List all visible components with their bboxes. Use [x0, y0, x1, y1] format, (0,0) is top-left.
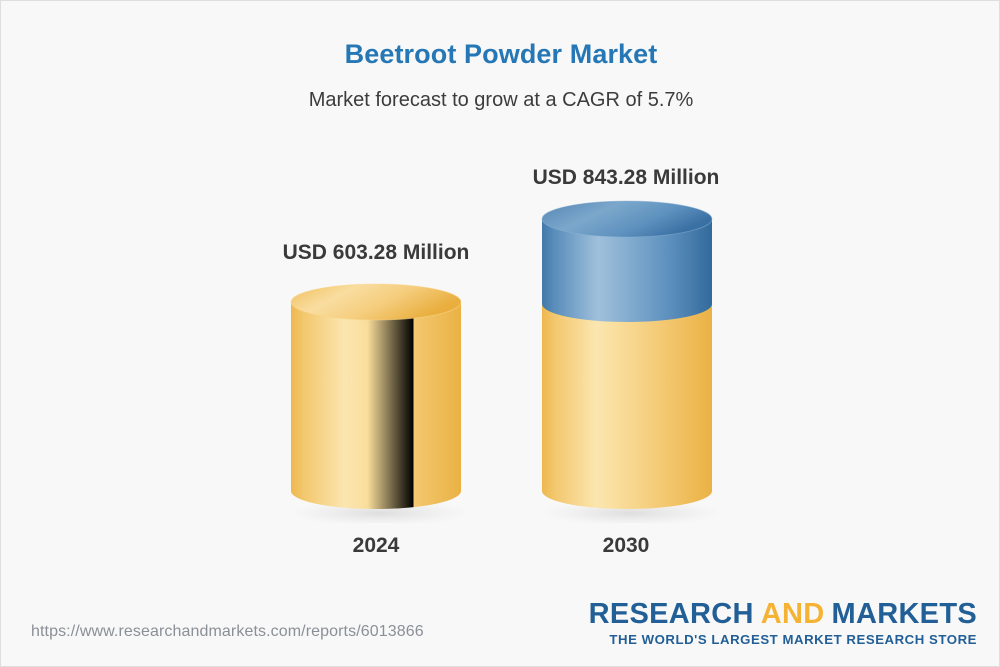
- plot-area: USD 603.28 Million: [1, 1, 1000, 601]
- brand-logo[interactable]: RESEARCHANDMARKETS THE WORLD'S LARGEST M…: [589, 599, 977, 647]
- cylinder-bar-2024[interactable]: [281, 273, 471, 523]
- brand-tagline: THE WORLD'S LARGEST MARKET RESEARCH STOR…: [589, 632, 977, 647]
- brand-word-and: AND: [761, 598, 825, 630]
- brand-word-research: RESEARCH: [589, 598, 754, 630]
- brand-name: RESEARCHANDMARKETS: [589, 599, 977, 629]
- brand-word-markets: MARKETS: [832, 598, 978, 630]
- bar-value-label-2030: USD 843.28 Million: [476, 166, 776, 190]
- chart-canvas: Beetroot Powder Market Market forecast t…: [0, 0, 1000, 667]
- bar-category-label-2030: 2030: [476, 534, 776, 558]
- bar-value-label-2024: USD 603.28 Million: [226, 241, 526, 265]
- cylinder-bar-2030[interactable]: [532, 190, 722, 523]
- report-url[interactable]: https://www.researchandmarkets.com/repor…: [31, 623, 424, 641]
